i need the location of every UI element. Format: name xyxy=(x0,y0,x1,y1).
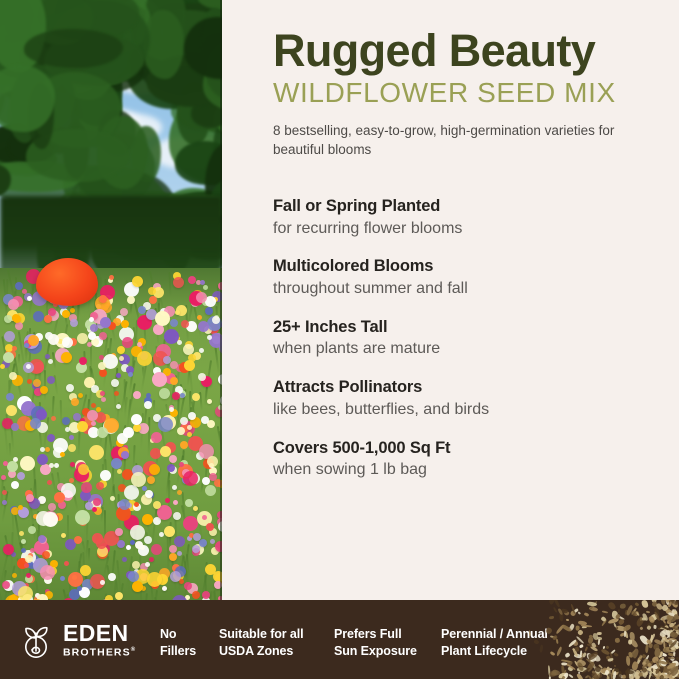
orange-poppy xyxy=(36,258,98,306)
feature-subtitle: when sowing 1 lb bag xyxy=(273,460,669,481)
feature-subtitle: when plants are mature xyxy=(273,339,669,360)
badge-sun-exposure: Prefers Full Sun Exposure xyxy=(334,626,417,660)
sprout-in-circle-icon xyxy=(20,621,56,659)
badge-usda-zones: Suitable for all USDA Zones xyxy=(219,626,304,660)
feature-subtitle: throughout summer and fall xyxy=(273,279,669,300)
meadow-region xyxy=(0,268,222,606)
badge-no-fillers: No Fillers xyxy=(160,626,196,660)
feature-title: Fall or Spring Planted xyxy=(273,196,669,217)
logo-wordmark: EDEN BROTHERS® xyxy=(63,622,136,658)
feature-title: Covers 500-1,000 Sq Ft xyxy=(273,438,669,459)
title-block: Rugged Beauty WILDFLOWER SEED MIX 8 best… xyxy=(273,28,665,160)
seed-mix-pile-image xyxy=(529,600,679,679)
wildflower-meadow-photo xyxy=(0,0,222,606)
feature-item: Fall or Spring Planted for recurring flo… xyxy=(273,196,669,239)
feature-item: Multicolored Blooms throughout summer an… xyxy=(273,256,669,299)
page-title: Rugged Beauty xyxy=(273,28,665,74)
feature-item: Attracts Pollinators like bees, butterfl… xyxy=(273,377,669,420)
logo-subname: BROTHERS® xyxy=(63,647,136,658)
feature-list: Fall or Spring Planted for recurring flo… xyxy=(273,196,669,481)
feature-item: 25+ Inches Tall when plants are mature xyxy=(273,317,669,360)
treeline-region xyxy=(0,0,222,300)
feature-title: Multicolored Blooms xyxy=(273,256,669,277)
content-panel: Rugged Beauty WILDFLOWER SEED MIX 8 best… xyxy=(222,0,679,606)
logo-name: EDEN xyxy=(63,622,136,645)
footer-content: EDEN BROTHERS® No Fillers Suitable for a… xyxy=(0,600,679,679)
footer-bar: EDEN BROTHERS® No Fillers Suitable for a… xyxy=(0,600,679,679)
eden-brothers-logo[interactable]: EDEN BROTHERS® xyxy=(20,621,136,659)
tagline: 8 bestselling, easy-to-grow, high-germin… xyxy=(273,121,623,159)
feature-subtitle: for recurring flower blooms xyxy=(273,219,669,240)
feature-subtitle: like bees, butterflies, and birds xyxy=(273,400,669,421)
badge-plant-lifecycle: Perennial / Annual Plant Lifecycle xyxy=(441,626,548,660)
page-subtitle: WILDFLOWER SEED MIX xyxy=(273,78,665,107)
feature-item: Covers 500-1,000 Sq Ft when sowing 1 lb … xyxy=(273,438,669,481)
feature-title: 25+ Inches Tall xyxy=(273,317,669,338)
feature-title: Attracts Pollinators xyxy=(273,377,669,398)
product-infographic: Rugged Beauty WILDFLOWER SEED MIX 8 best… xyxy=(0,0,679,679)
